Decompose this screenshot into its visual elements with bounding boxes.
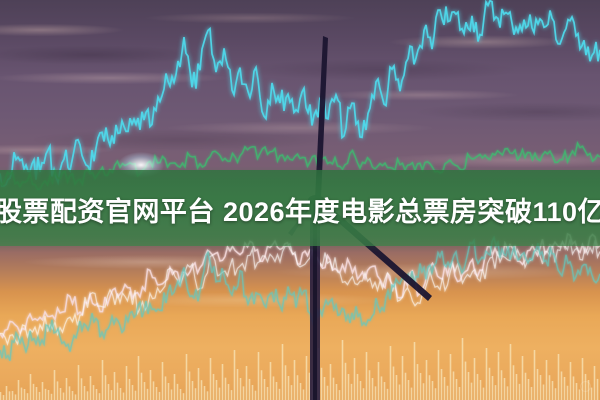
page-title: 股票配资官网平台 2026年度电影总票房突破110亿 [0, 186, 600, 232]
banner-image: 股票配资官网平台 2026年度电影总票房突破110亿 [0, 0, 600, 400]
corner-watermark-icon [580, 381, 591, 392]
